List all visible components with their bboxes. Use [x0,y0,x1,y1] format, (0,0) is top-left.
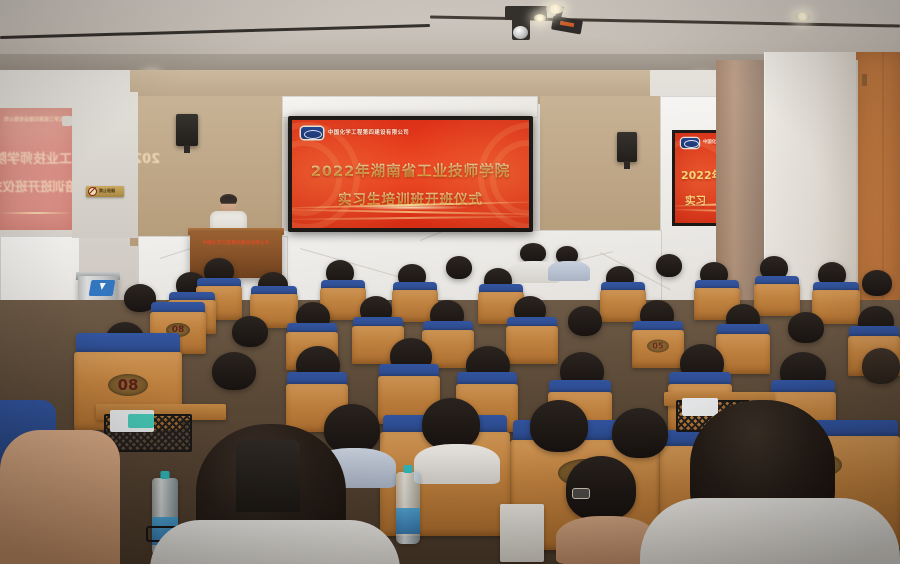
screen-center-glow [351,205,470,210]
led-display-screen: 中国化学工程第四建设有限公司 2022年湖南省工业技师学院 实习生培训班开班仪式 [288,116,533,232]
teal-card-in-pocket [128,414,154,428]
wall-panel-beige-right [540,96,660,246]
foreground-attendee-shoulders-left [150,520,400,564]
head [520,243,546,263]
bottle-label [396,508,420,534]
wall-speaker-left [176,114,198,146]
foreground-arm [0,430,120,564]
podium-company-text: 中国化学工程第四建设有限公司 [194,240,278,246]
attendee-head [862,348,900,384]
logo-ring [684,140,699,148]
screen-company-name: 中国化学工程第四建设有限公司 [328,128,409,136]
recycle-bin-blue-panel [89,280,116,296]
seat[interactable] [754,284,800,316]
marble-panel-above-screen [282,96,538,118]
attendee-head [568,306,602,336]
wall-speaker-right [617,132,637,162]
seat-back [754,284,800,316]
attendee-head [862,270,892,296]
wall-switch-icon [862,74,867,86]
seat-armrest-dark [236,440,300,512]
mirror-glass-panel [72,92,138,238]
conference-hall-photo: 中国化学工程第四建设有限公司 2022年湖南省工业技师学院 实习生培训班开班仪式… [0,0,900,564]
seat[interactable]: 05 [632,330,684,368]
attendee-shoulders-far2 [548,261,590,281]
foreground-attendee-shoulders-right [640,498,900,564]
attendee-head [232,316,268,347]
spotlight-lens-icon [513,26,528,39]
no-smoking-label: 禁止吸烟 [99,189,115,193]
led-screen-surface: 中国化学工程第四建设有限公司 2022年湖南省工业技师学院 实习生培训班开班仪式 [292,120,529,228]
company-logo-icon [301,127,323,139]
attendee-head [446,256,472,279]
bottle-cap [161,471,170,479]
document-on-desk[interactable] [500,504,544,562]
no-smoking-plaque: 禁止吸烟 [86,186,124,197]
attendee-head [324,404,380,454]
ceiling-downlight-small [534,14,546,22]
seat[interactable] [716,334,770,374]
wall-panel-beige-left [130,96,282,246]
company-logo-icon-secondary [681,138,699,148]
attendee-head [612,408,668,458]
attendee-head [422,398,480,450]
attendee-head [656,254,682,277]
seat-back [716,334,770,374]
eyeglasses-icon [572,488,590,499]
wall-mount-bracket [62,116,72,126]
mirror-wave [0,212,72,214]
ceiling-downlight [546,4,564,14]
seat[interactable] [506,326,558,364]
attendee-head [212,352,256,390]
seat-number-badge: 05 [647,339,669,352]
bottle-cap [404,465,413,473]
seat-back [506,326,558,364]
ceiling-downlight-right [795,12,810,21]
attendee-shoulders [414,444,500,484]
logo-ring [304,130,322,139]
water-bottle[interactable] [396,472,420,544]
no-smoking-icon [88,187,97,196]
paper-in-pocket-right [682,398,718,416]
mirror-reflection-banner: 中国化学工程第四建设有限公司 2022年湖南省工业技师学院 实习生培训班开班仪式 [0,108,72,230]
seat-number-badge: 08 [108,374,148,396]
attendee-head [530,400,588,452]
attendee-head [788,312,824,343]
screen-title-line1: 2022年湖南省工业技师学院 [292,160,529,181]
